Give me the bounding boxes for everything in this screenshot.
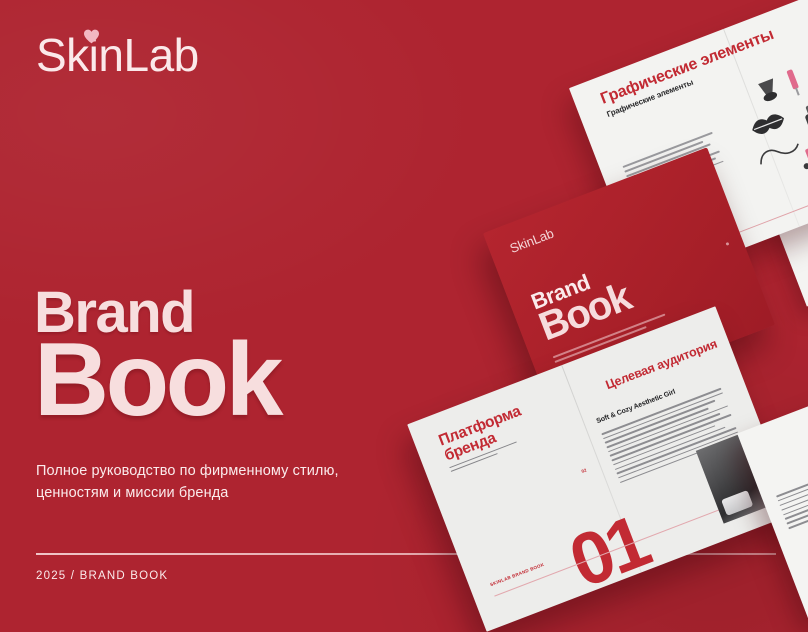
dropper-icon xyxy=(795,98,808,136)
lipstick-icon xyxy=(754,74,787,106)
brand-logo-text: SkinLab xyxy=(36,32,199,78)
cover-subtitle-line-2: ценностям и миссии бренда xyxy=(36,482,339,504)
heart-icon xyxy=(83,29,100,44)
cover-subtitle-line-1: Полное руководство по фирменному стилю, xyxy=(36,460,339,482)
cover-subtitle: Полное руководство по фирменному стилю, … xyxy=(36,460,339,505)
mockup-platform-audience-spread: Платформа бренда 02 01 SKINLAB BRAND BOO… xyxy=(407,306,795,632)
card-corner-dot xyxy=(726,242,730,246)
syringe-icon xyxy=(783,66,805,98)
cover-footer: 2025 / BRAND BOOK xyxy=(36,570,168,582)
platform-footer-note: SKINLAB BRAND BOOK xyxy=(489,562,545,587)
poster-canvas: SkinLab Brand Book Полное руководство по… xyxy=(0,0,808,632)
graphic-icon-collage xyxy=(731,31,808,202)
cover-title: Brand Book xyxy=(34,286,280,427)
lips-outline-icon xyxy=(746,107,789,141)
edge-text-lines xyxy=(776,471,808,533)
platform-page-number: 02 xyxy=(581,467,587,473)
card-logo: SkinLab xyxy=(508,226,556,256)
audience-title: Целевая аудитория xyxy=(604,337,719,392)
title-book: Book xyxy=(34,335,280,427)
brand-logo: SkinLab xyxy=(36,32,199,78)
